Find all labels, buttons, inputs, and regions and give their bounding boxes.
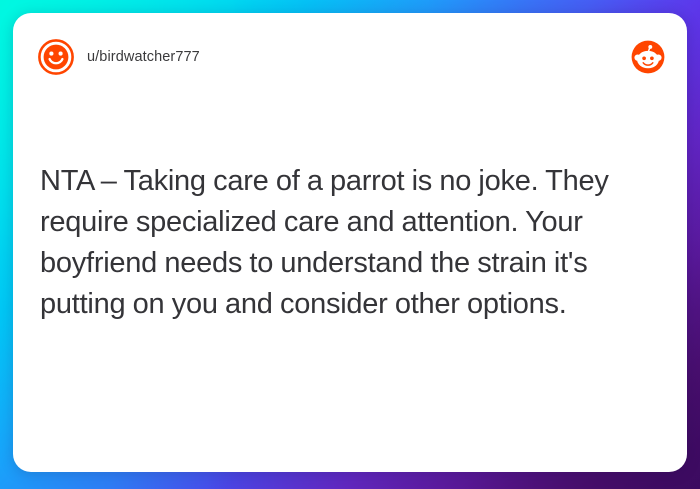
reddit-snoo-icon[interactable] [631, 40, 665, 74]
post-text: NTA – Taking care of a parrot is no joke… [40, 161, 653, 325]
post-header: u/birdwatcher777 [13, 13, 687, 101]
smiley-face-avatar-icon[interactable] [37, 38, 75, 76]
post-username[interactable]: u/birdwatcher777 [87, 49, 200, 65]
screenshot-root: u/birdwatcher777 [0, 0, 700, 489]
post-body: NTA – Taking care of a parrot is no joke… [40, 161, 653, 325]
reddit-post-card: u/birdwatcher777 [13, 13, 687, 472]
